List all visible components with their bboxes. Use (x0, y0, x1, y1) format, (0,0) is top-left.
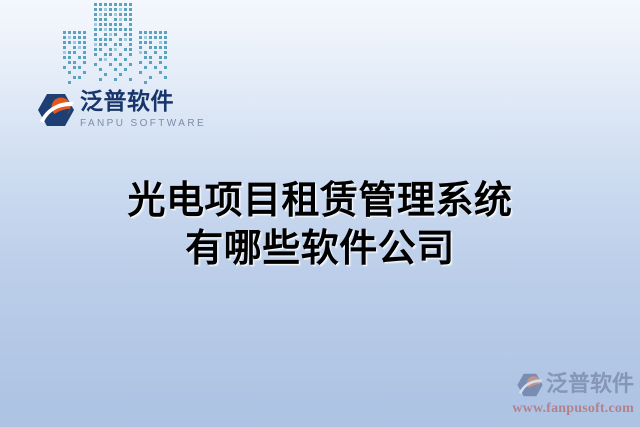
watermark-url: www.fanpusoft.com (494, 401, 634, 417)
dot-matrix-skyline-graphic (60, 0, 175, 86)
brand-wordmark: 泛普软件 FANPU SOFTWARE (80, 90, 206, 131)
brand-name-cn: 泛普软件 (80, 90, 206, 115)
watermark: 泛普软件 www.fanpusoft.com (494, 371, 634, 417)
poster-canvas: 泛普软件 FANPU SOFTWARE 光电项目租赁管理系统 有哪些软件公司 泛… (0, 0, 640, 427)
fanpu-hexagon-logo-icon (36, 90, 76, 130)
page-title-line-2: 有哪些软件公司 (0, 224, 640, 272)
brand-logo: 泛普软件 FANPU SOFTWARE (36, 90, 206, 131)
brand-name-en: FANPU SOFTWARE (80, 116, 206, 131)
page-title: 光电项目租赁管理系统 有哪些软件公司 (0, 176, 640, 272)
watermark-name-cn: 泛普软件 (546, 374, 634, 396)
watermark-logo-row: 泛普软件 (494, 371, 634, 399)
page-title-line-1: 光电项目租赁管理系统 (0, 176, 640, 224)
fanpu-hexagon-watermark-icon (516, 371, 544, 399)
